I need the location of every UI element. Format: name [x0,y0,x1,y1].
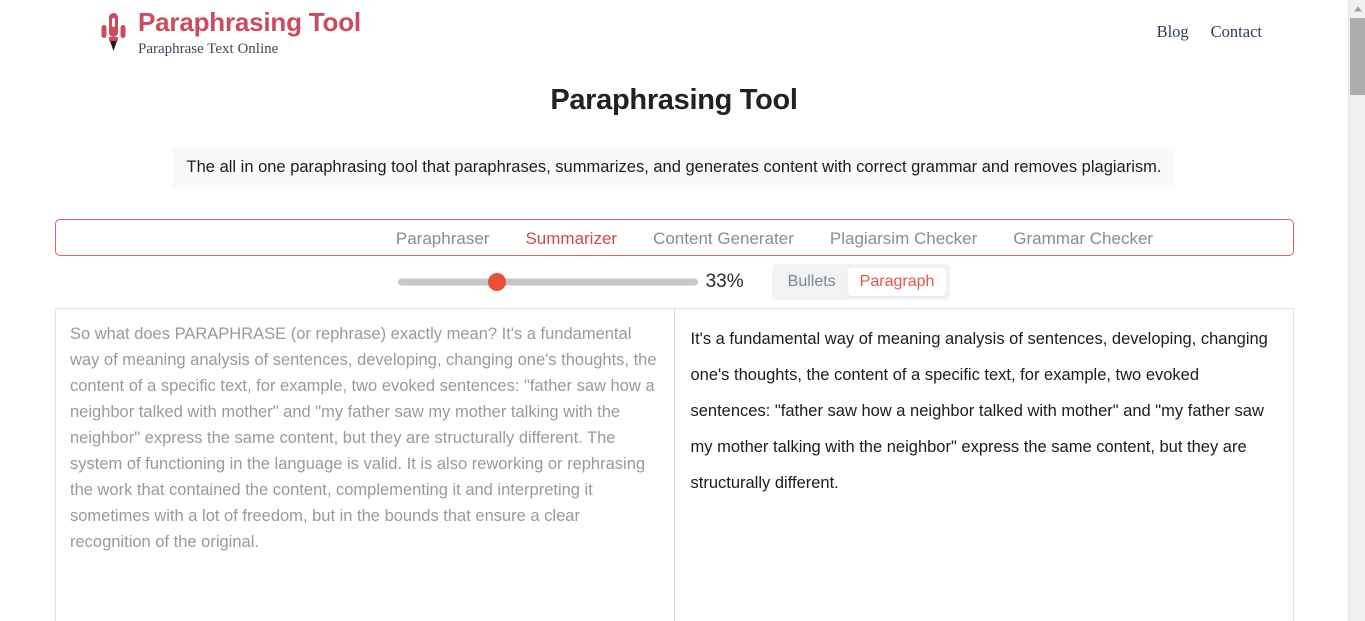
slider-value-label: 33% [706,271,744,293]
rocket-icon [100,11,126,53]
tab-plagiarsim-checker[interactable]: Plagiarsim Checker [812,220,995,257]
format-option-paragraph[interactable]: Paragraph [848,268,947,296]
nav-link-blog[interactable]: Blog [1157,22,1189,42]
page-root: Paraphrasing Tool Paraphrase Text Online… [0,0,1365,621]
tab-grammar-checker[interactable]: Grammar Checker [995,220,1171,257]
tab-paraphraser[interactable]: Paraphraser [378,220,508,257]
input-panel[interactable]: So what does PARAPHRASE (or rephrase) ex… [56,309,675,621]
brand-block[interactable]: Paraphrasing Tool Paraphrase Text Online [100,8,361,57]
page-subtitle: The all in one paraphrasing tool that pa… [173,147,1176,188]
page-viewport: Paraphrasing Tool Paraphrase Text Online… [0,0,1348,621]
scrollbar-thumb[interactable] [1350,18,1365,95]
nav-link-contact[interactable]: Contact [1211,22,1262,42]
summarizer-controls: 33% Bullets Paragraph [0,264,1348,300]
tab-summarizer[interactable]: Summarizer [507,220,635,257]
tool-tabs: Paraphraser Summarizer Content Generater… [56,220,1293,257]
summary-length-slider[interactable] [398,270,698,294]
brand-title: Paraphrasing Tool [138,8,361,38]
main-nav: Blog Contact [1157,22,1262,42]
site-header: Paraphrasing Tool Paraphrase Text Online… [0,0,1348,66]
slider-thumb[interactable] [488,273,506,291]
output-panel[interactable]: It's a fundamental way of meaning analys… [675,309,1294,621]
format-option-bullets[interactable]: Bullets [776,268,848,296]
page-scrollbar[interactable] [1348,0,1365,621]
input-textarea[interactable]: So what does PARAPHRASE (or rephrase) ex… [70,321,660,555]
caret-up-icon[interactable] [1349,0,1365,17]
tab-content-generater[interactable]: Content Generater [635,220,812,257]
editor-panels: So what does PARAPHRASE (or rephrase) ex… [55,308,1294,621]
output-format-toggle: Bullets Paragraph [772,264,951,300]
output-textarea: It's a fundamental way of meaning analys… [691,321,1280,501]
brand-text: Paraphrasing Tool Paraphrase Text Online [138,8,361,57]
page-subtitle-wrap: The all in one paraphrasing tool that pa… [0,147,1348,188]
slider-track[interactable] [398,279,698,286]
brand-subtitle: Paraphrase Text Online [138,42,361,57]
page-title: Paraphrasing Tool [0,84,1348,117]
tool-tabbar: Paraphraser Summarizer Content Generater… [55,219,1294,256]
